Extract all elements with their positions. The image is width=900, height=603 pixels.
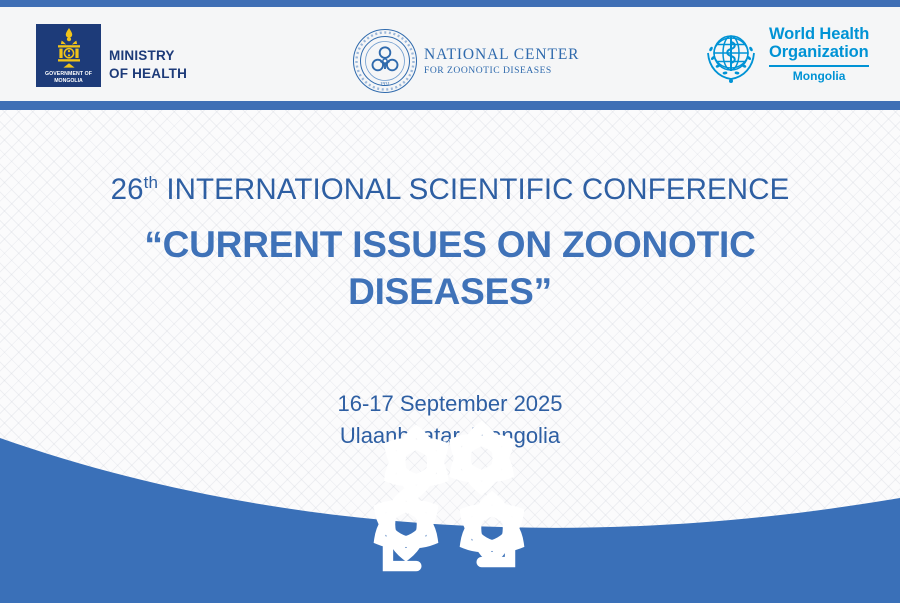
conference-theme-line2: DISEASES” xyxy=(0,268,900,315)
header-separator-rule xyxy=(0,101,900,110)
conference-number: 26 xyxy=(111,173,144,206)
conference-heading-label: INTERNATIONAL SCIENTIFIC CONFERENCE xyxy=(158,173,789,206)
triquetra-knot-ornament-right-icon xyxy=(0,406,882,581)
who-un-emblem-icon xyxy=(700,25,762,87)
who-divider-rule xyxy=(769,65,869,67)
who-name-line2: Organization xyxy=(769,43,869,61)
national-center-logo: 1931 NATIONAL CENTER FOR ZOONOTIC DISEAS… xyxy=(352,28,579,94)
nczd-name-line1: NATIONAL CENTER xyxy=(424,46,579,64)
mongolia-state-emblem-soyombo-icon: GOVERNMENT OF MONGOLIA xyxy=(36,24,101,87)
conference-title-slide: GOVERNMENT OF MONGOLIA MINISTRY OF HEALT… xyxy=(0,0,900,603)
ministry-name-line2: OF HEALTH xyxy=(109,65,187,83)
who-name-line1: World Health xyxy=(769,25,869,43)
who-name: World Health Organization Mongolia xyxy=(769,25,869,83)
top-accent-rule xyxy=(0,0,900,7)
title-block: 26th INTERNATIONAL SCIENTIFIC CONFERENCE… xyxy=(0,110,900,452)
conference-theme-line1: “CURRENT ISSUES ON ZOONOTIC xyxy=(0,221,900,268)
svg-text:1931: 1931 xyxy=(380,83,391,88)
conference-heading: 26th INTERNATIONAL SCIENTIFIC CONFERENCE xyxy=(0,173,900,207)
who-country-label: Mongolia xyxy=(769,69,869,83)
nczd-circular-seal-icon: 1931 xyxy=(352,28,418,94)
conference-ordinal-suffix: th xyxy=(144,173,158,192)
ministry-name: MINISTRY OF HEALTH xyxy=(109,47,187,87)
national-center-name: NATIONAL CENTER FOR ZOONOTIC DISEASES xyxy=(424,46,579,77)
ministry-name-line1: MINISTRY xyxy=(109,47,187,65)
moh-badge-line1: GOVERNMENT OF xyxy=(36,72,101,77)
moh-badge-line2: MONGOLIA xyxy=(36,79,101,84)
footer-wave-decoration xyxy=(0,428,900,603)
ministry-of-health-logo: GOVERNMENT OF MONGOLIA MINISTRY OF HEALT… xyxy=(36,24,187,87)
logo-header-bar: GOVERNMENT OF MONGOLIA MINISTRY OF HEALT… xyxy=(0,7,900,101)
conference-theme: “CURRENT ISSUES ON ZOONOTIC DISEASES” xyxy=(0,221,900,316)
slide-body: 26th INTERNATIONAL SCIENTIFIC CONFERENCE… xyxy=(0,110,900,603)
who-logo: World Health Organization Mongolia xyxy=(700,25,869,87)
nczd-name-line2: FOR ZOONOTIC DISEASES xyxy=(424,65,579,76)
